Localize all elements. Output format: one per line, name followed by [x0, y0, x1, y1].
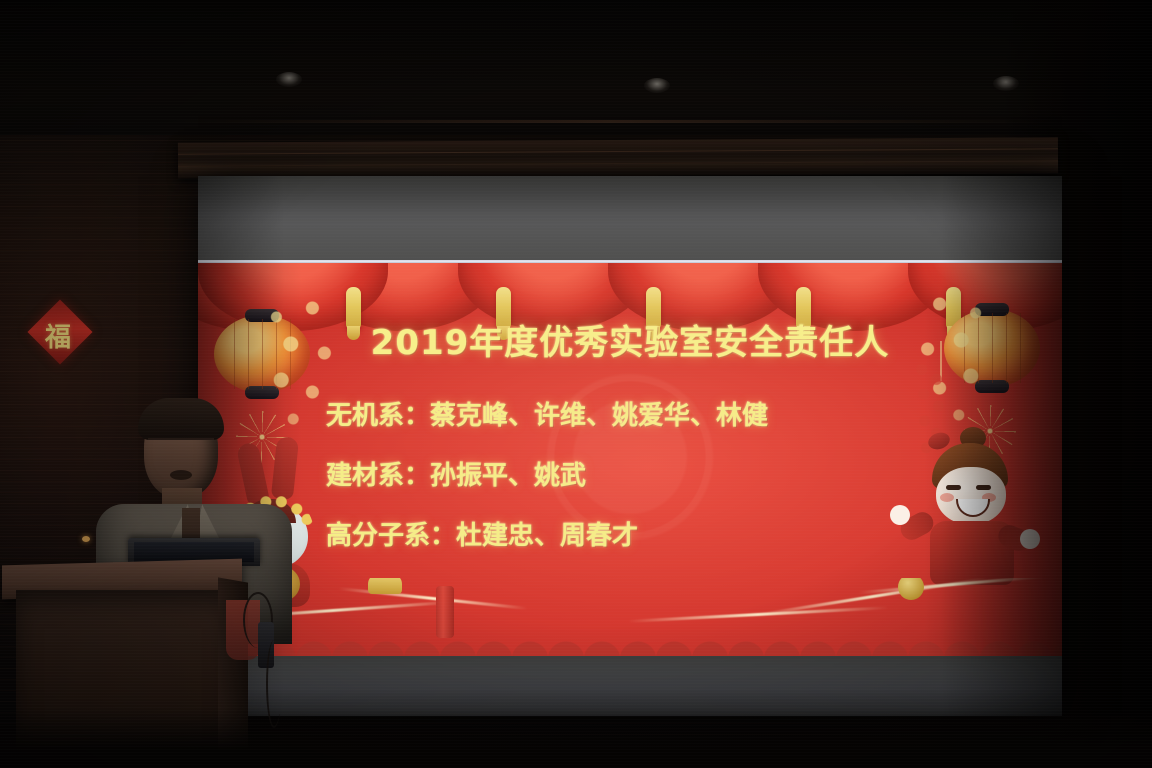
- ceiling: [0, 0, 1152, 135]
- screen-bottom-band: [198, 656, 1062, 716]
- projection-screen: 2019年度优秀实验室安全责任人 无机系：蔡克峰、许维、姚爱华、林健 建材系：孙…: [198, 176, 1062, 716]
- ceiling-rail: [160, 120, 1060, 123]
- presenter-hair: [138, 398, 224, 440]
- ceiling-light-icon: [644, 78, 670, 93]
- slide-line-inorganic: 无机系：蔡克峰、许维、姚爱华、林健: [326, 403, 1026, 429]
- slide-line-building-materials: 建材系：孙振平、姚武: [326, 463, 1026, 489]
- screen-top-band: [198, 176, 1062, 261]
- ceiling-light-icon: [276, 72, 302, 87]
- scroll-tube-icon: [436, 586, 454, 638]
- slide-content: 2019年度优秀实验室安全责任人 无机系：蔡克峰、许维、姚爱华、林健 建材系：孙…: [198, 263, 1062, 656]
- valance-seam: [178, 160, 1058, 166]
- fu-charm: 福: [29, 291, 87, 389]
- floor-shadow: [0, 708, 1152, 768]
- slide-body: 无机系：蔡克峰、许维、姚爱华、林健 建材系：孙振平、姚武 高分子系：杜建忠、周春…: [326, 403, 1026, 583]
- fu-character: 福: [29, 317, 87, 354]
- slide-line-polymer: 高分子系：杜建忠、周春才: [326, 523, 1026, 549]
- screen-valance: [178, 137, 1058, 178]
- slide-title: 2019年度优秀实验室安全责任人: [198, 315, 1062, 364]
- glasses-icon: [148, 438, 214, 452]
- laptop-indicator-light: [82, 536, 90, 542]
- valance-seam: [178, 148, 1058, 154]
- presenter-mouth: [170, 470, 192, 480]
- photo-scene: 福: [0, 0, 1152, 768]
- wave-band: [198, 578, 1062, 656]
